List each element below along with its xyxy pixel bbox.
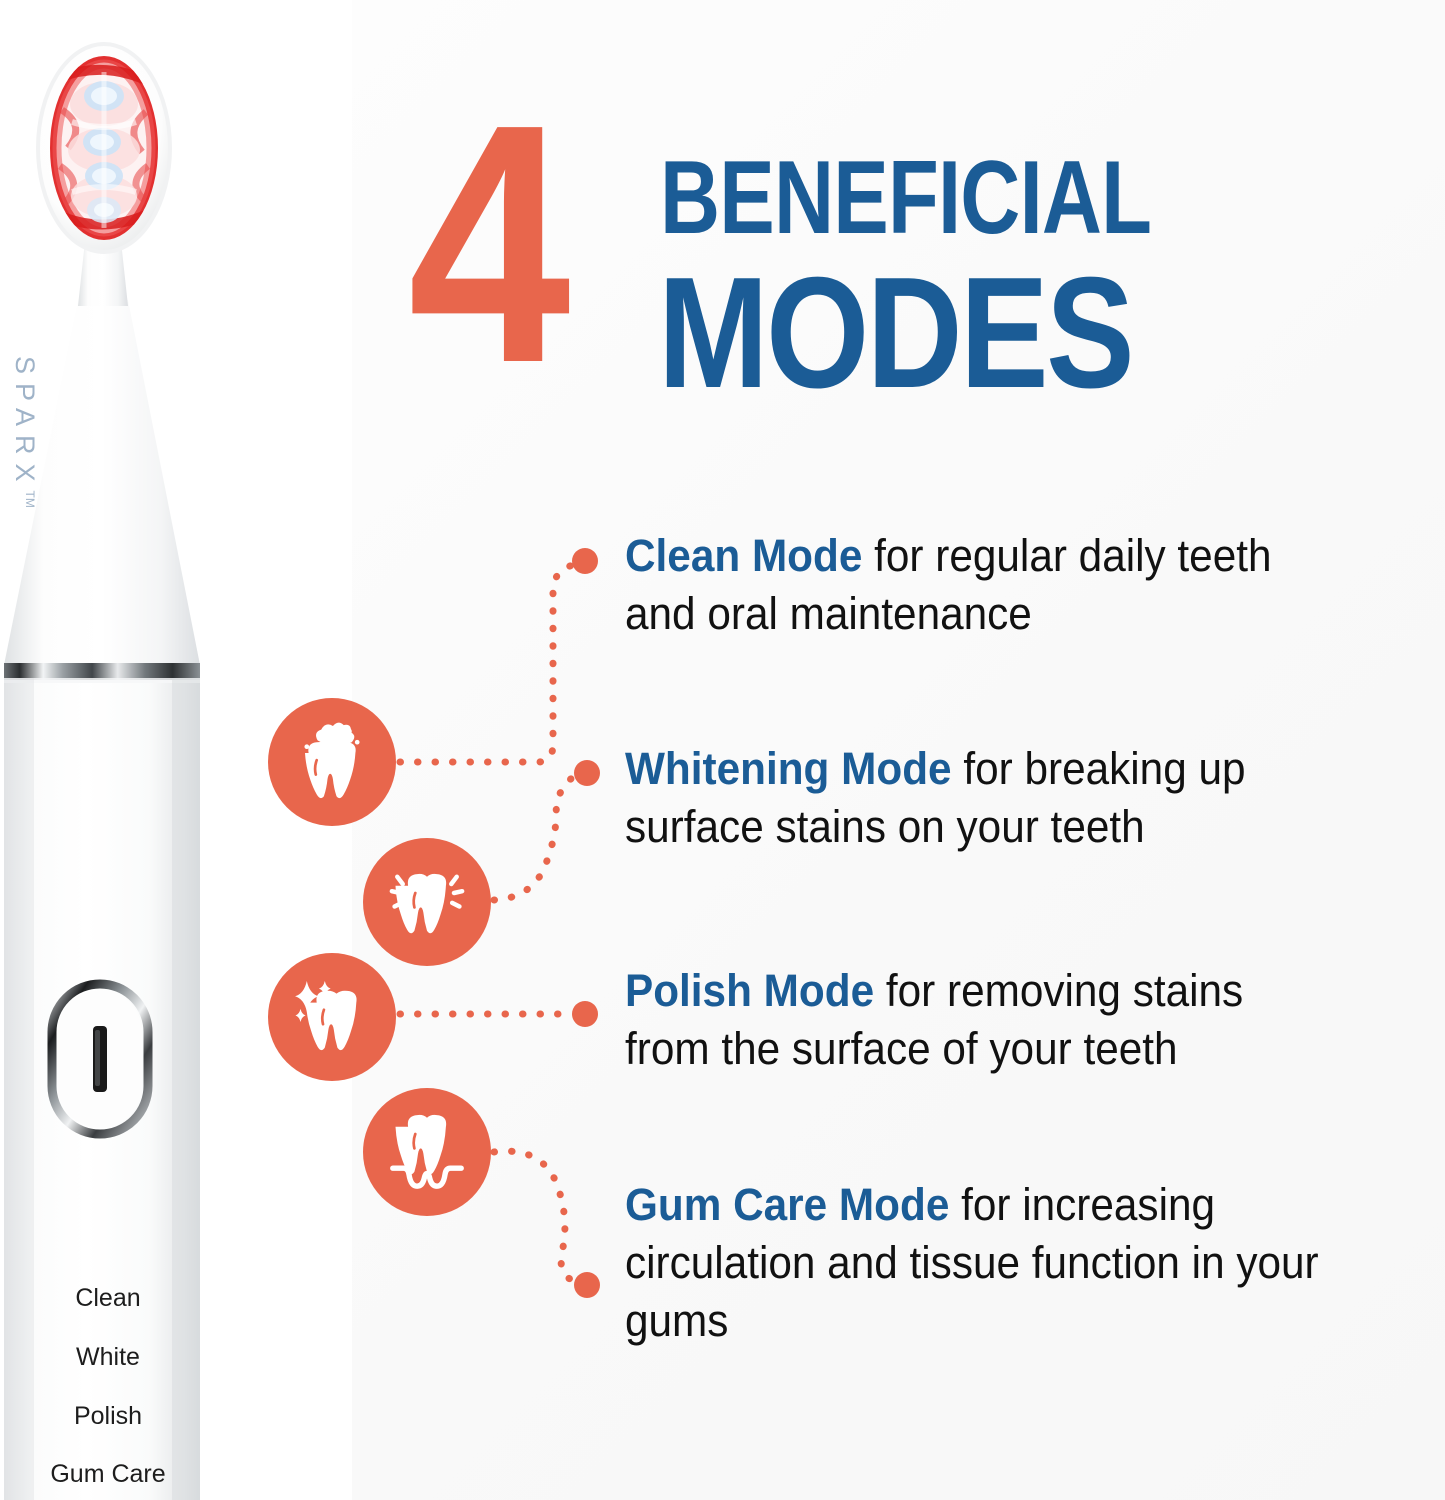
handle-label-polish: Polish: [8, 1402, 208, 1431]
tooth-with-gum-icon: [363, 1088, 491, 1216]
sparkling-tooth-icon: [268, 953, 396, 1081]
mode-description-clean: Clean Mode for regular daily teeth and o…: [625, 527, 1321, 643]
toothbrush-product-image: [0, 0, 260, 1500]
handle-label-clean: Clean: [8, 1284, 208, 1313]
headline-number: 4: [408, 94, 565, 394]
mode-lead-polish: Polish Mode: [625, 965, 874, 1016]
headline-line-two: MODES: [658, 258, 1132, 408]
handle-label-gum-care: Gum Care: [8, 1460, 208, 1489]
page-title: 4 BENEFICIAL MODES: [408, 110, 1308, 410]
handle-label-white: White: [8, 1343, 208, 1372]
mode-description-whitening: Whitening Mode for breaking up surface s…: [625, 740, 1321, 856]
product-infographic: SPARXTM Clean White Polish Gum Care 4 BE…: [0, 0, 1445, 1500]
mode-description-polish: Polish Mode for removing stains from the…: [625, 962, 1321, 1078]
mode-description-gum-care: Gum Care Mode for increasing circulation…: [625, 1176, 1321, 1350]
mode-lead-whitening: Whitening Mode: [625, 743, 952, 794]
headline-line-one: BENEFICIAL: [660, 148, 1151, 248]
shining-tooth-icon: [363, 838, 491, 966]
tooth-with-foam-icon: [268, 698, 396, 826]
mode-lead-clean: Clean Mode: [625, 530, 862, 581]
mode-lead-gum-care: Gum Care Mode: [625, 1179, 949, 1230]
brand-logo: SPARXTM: [9, 356, 40, 516]
